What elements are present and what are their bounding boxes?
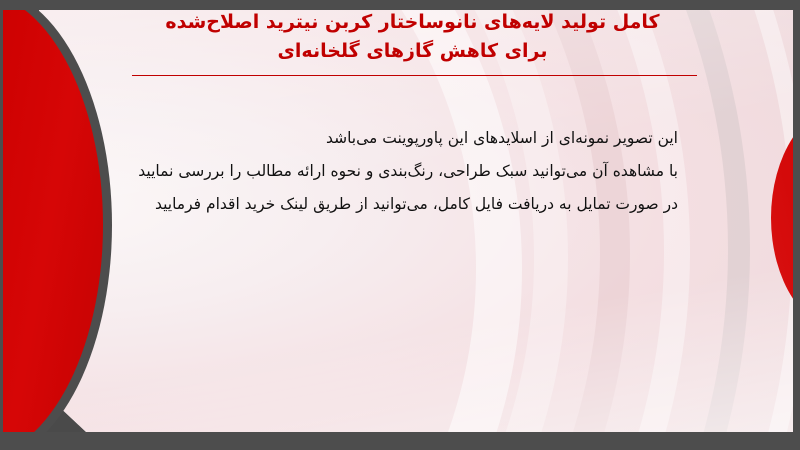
body-text-line-3: در صورت تمایل به دریافت فایل کامل، می‌تو… — [118, 188, 678, 221]
body-text-line-2: با مشاهده آن می‌توانید سبک طراحی، رنگ‌بن… — [118, 155, 678, 188]
slide-frame-left — [0, 0, 3, 450]
slide-title-line-2: برای کاهش گازهای گلخانه‌ای — [120, 37, 705, 66]
body-text-line-1: این تصویر نمونه‌ای از اسلایدهای این پاور… — [118, 122, 678, 155]
slide-title: کامل تولید لایه‌های نانوساختار کربن نیتر… — [120, 8, 705, 66]
slide-body-text: این تصویر نمونه‌ای از اسلایدهای این پاور… — [118, 122, 678, 221]
slide-frame-bottom — [0, 432, 800, 450]
title-divider-rule — [132, 75, 697, 76]
slide-background-panel — [0, 9, 793, 433]
presentation-slide: کامل تولید لایه‌های نانوساختار کربن نیتر… — [0, 0, 800, 450]
slide-title-line-1: کامل تولید لایه‌های نانوساختار کربن نیتر… — [120, 8, 705, 37]
slide-frame-right — [793, 0, 800, 450]
background-sheen-overlay — [0, 9, 793, 433]
slide-frame-top — [0, 0, 800, 10]
